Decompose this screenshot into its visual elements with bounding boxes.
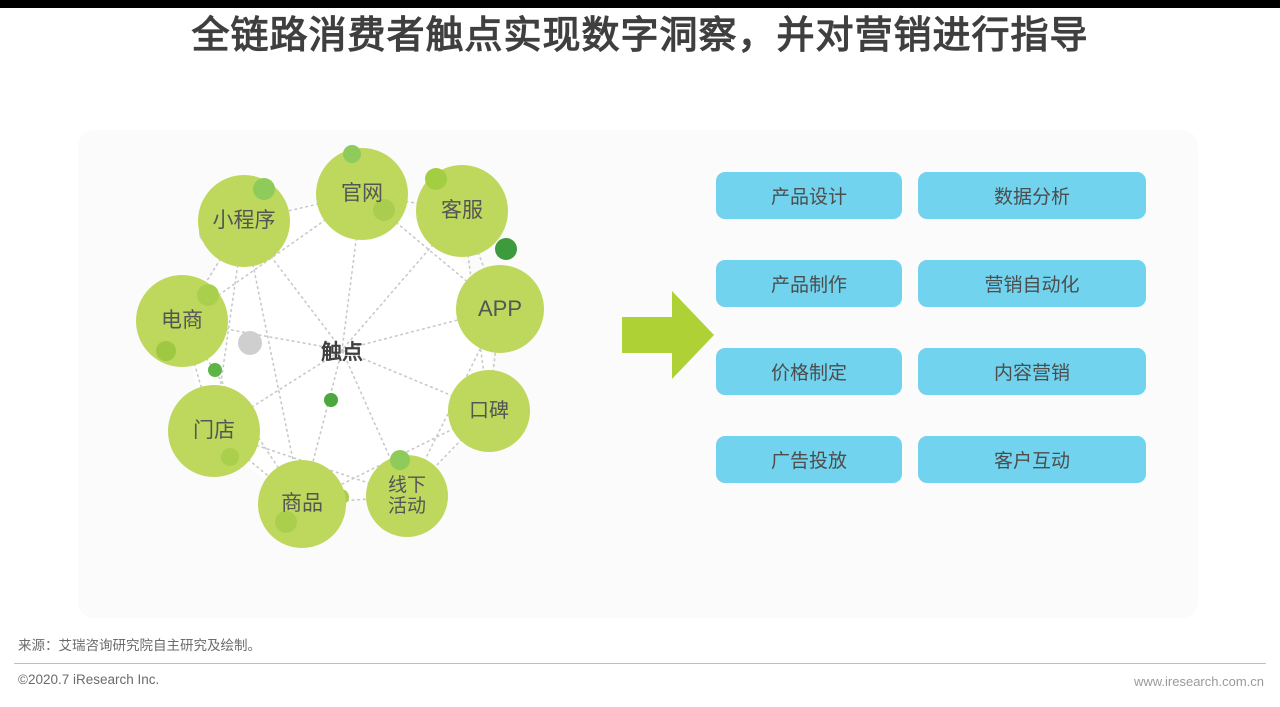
node-accent-dot	[156, 341, 176, 361]
flow-arrow-icon	[620, 285, 716, 385]
dot-green-small-left	[208, 363, 222, 377]
touchpoint-node-label: 小程序	[213, 209, 276, 233]
capability-box-right-2[interactable]: 营销自动化	[918, 260, 1146, 307]
touchpoint-node-3[interactable]: APP	[456, 265, 544, 353]
capability-box-right-4[interactable]: 客户互动	[918, 436, 1146, 483]
capability-box-left-3[interactable]: 价格制定	[716, 348, 902, 395]
touchpoint-node-label: 商品	[281, 492, 323, 516]
touchpoint-node-label: APP	[478, 297, 522, 322]
dot-dark-green-app	[495, 238, 517, 260]
node-accent-dot	[253, 178, 275, 200]
copyright-note: ©2020.7 iResearch Inc.	[18, 672, 159, 687]
capability-grid: 产品设计数据分析产品制作营销自动化价格制定内容营销广告投放客户互动	[716, 172, 1176, 483]
touchpoint-node-label: 官网	[341, 182, 383, 206]
capability-box-right-1[interactable]: 数据分析	[918, 172, 1146, 219]
touchpoint-node-label: 线下活动	[388, 475, 426, 518]
capability-row: 产品设计数据分析	[716, 172, 1176, 219]
source-note: 来源：艾瑞咨询研究院自主研究及绘制。	[18, 634, 261, 654]
touchpoint-network-diagram: 触点 官网客服APP口碑线下活动商品门店电商小程序	[118, 130, 658, 618]
touchpoint-node-label: 客服	[441, 199, 483, 223]
node-accent-dot	[343, 145, 361, 163]
touchpoint-node-label: 电商	[161, 309, 203, 333]
capability-row: 广告投放客户互动	[716, 436, 1176, 483]
touchpoint-node-2[interactable]: 客服	[416, 165, 508, 257]
top-black-bar	[0, 0, 1280, 8]
capability-box-left-2[interactable]: 产品制作	[716, 260, 902, 307]
touchpoint-node-8[interactable]: 电商	[136, 275, 228, 367]
site-url: www.iresearch.com.cn	[1134, 674, 1264, 689]
touchpoint-node-5[interactable]: 线下活动	[366, 455, 448, 537]
footer-divider	[14, 663, 1266, 664]
touchpoint-node-label: 口碑	[469, 400, 509, 422]
touchpoint-node-6[interactable]: 商品	[258, 460, 346, 548]
node-accent-dot	[390, 450, 410, 470]
capability-box-left-4[interactable]: 广告投放	[716, 436, 902, 483]
network-center-label: 触点	[262, 336, 422, 366]
touchpoint-node-4[interactable]: 口碑	[448, 370, 530, 452]
content-card: 触点 官网客服APP口碑线下活动商品门店电商小程序 产品设计数据分析产品制作营销…	[78, 130, 1198, 618]
node-accent-dot	[221, 448, 239, 466]
capability-row: 价格制定内容营销	[716, 348, 1176, 395]
dot-green-small-center	[324, 393, 338, 407]
touchpoint-node-7[interactable]: 门店	[168, 385, 260, 477]
touchpoint-node-label: 门店	[193, 419, 235, 443]
capability-box-right-3[interactable]: 内容营销	[918, 348, 1146, 395]
capability-row: 产品制作营销自动化	[716, 260, 1176, 307]
touchpoint-node-9[interactable]: 小程序	[198, 175, 290, 267]
capability-box-left-1[interactable]: 产品设计	[716, 172, 902, 219]
page-title: 全链路消费者触点实现数字洞察，并对营销进行指导	[0, 14, 1280, 60]
touchpoint-node-1[interactable]: 官网	[316, 148, 408, 240]
dot-gray-mid	[238, 331, 262, 355]
node-accent-dot	[197, 284, 219, 306]
node-accent-dot	[425, 168, 447, 190]
